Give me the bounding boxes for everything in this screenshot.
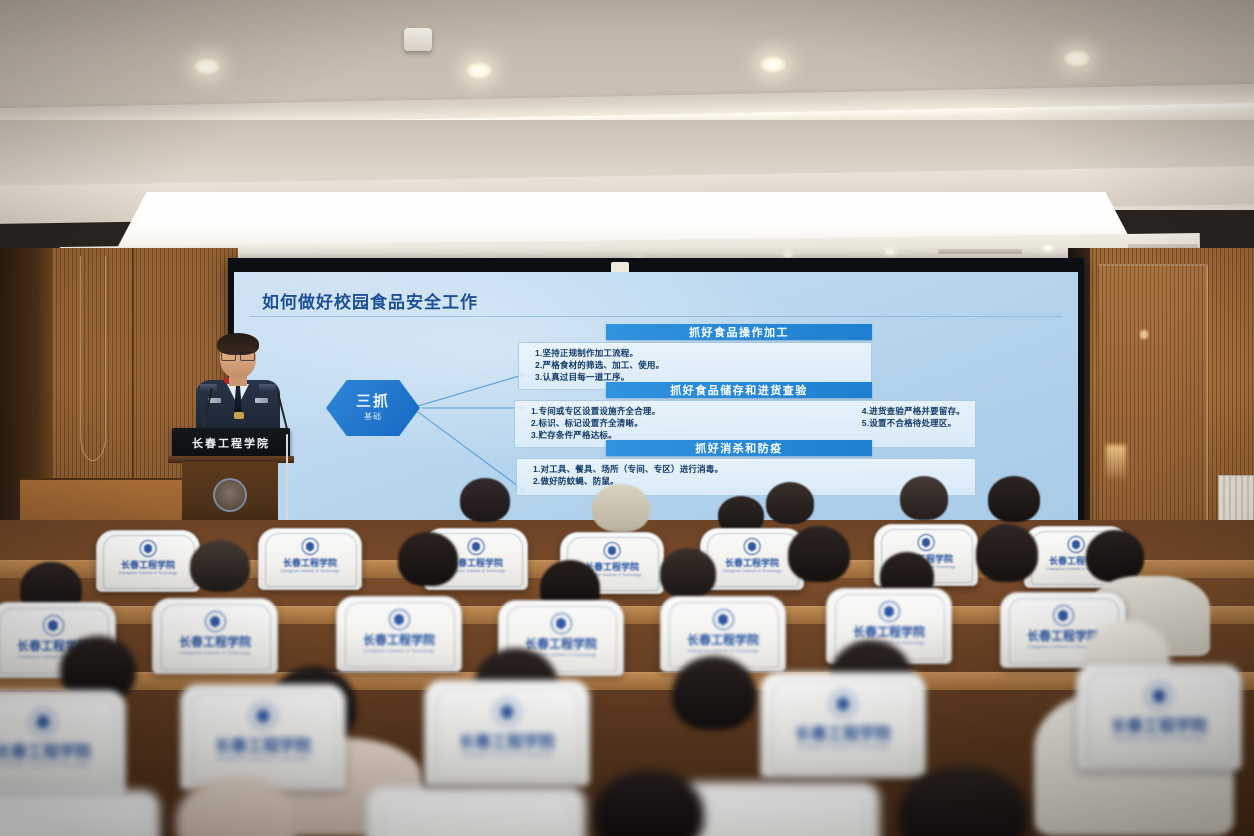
chair-logo-en: Changchun Institute of Technology [723,569,782,573]
presentation-slide: 如何做好校园食品安全工作 三抓 基础 抓好食品操作加工 1.坚持正规制作加工流程… [234,272,1078,524]
audience-head [660,548,716,598]
chair-logo: 长春工程学院 Changchun Institute of Technology [853,601,925,645]
audience-head [1086,530,1144,582]
chair-logo: 长春工程学院 Changchun Institute of Technology [179,611,251,655]
chair-logo: 长春工程学院 Changchun Institute of Technology [215,702,311,762]
block-2-line-right: 5.设置不合格待处理区。 [862,417,965,429]
door-light-reflection [1140,330,1148,339]
block-heading-3: 抓好消杀和防疫 [606,440,872,456]
chair-logo-cn: 长春工程学院 [853,623,925,640]
chair-logo-cn: 长春工程学院 [179,633,251,650]
chair-logo: 长春工程学院 Changchun Institute of Technology [525,613,597,657]
chair-logo-cn: 长春工程学院 [1111,712,1207,736]
chair-logo-cn: 长春工程学院 [363,631,435,648]
chair-logo-cn: 长春工程学院 [215,732,311,756]
chair-logo: 长春工程学院 Changchun Institute of Technology [795,690,891,750]
chair-logo: 长春工程学院 Changchun Institute of Technology [363,609,435,653]
slide-title-divider [250,316,1062,317]
chair-logo-cn: 长春工程学院 [0,738,91,762]
block-heading-1: 抓好食品操作加工 [606,324,872,340]
chair-logo: 长春工程学院 Changchun Institute of Technology [1111,682,1207,742]
chair-logo-cn: 长春工程学院 [687,631,759,648]
soffit-spotlight-icon [886,250,894,255]
ceiling-downlight-icon [1064,50,1090,67]
slide-title: 如何做好校园食品安全工作 [262,288,478,313]
podium-front-panel: 长春工程学院 [172,428,290,458]
audience-head [766,482,814,524]
chair-logo-en: Changchun Institute of Technology [119,571,178,575]
chair [366,786,586,836]
chair-logo: 长春工程学院 Changchun Institute of Technology [723,538,782,573]
audience-head [672,656,756,730]
hub-main-label: 三抓 [356,394,390,411]
ceiling-smoke-detector-icon [404,28,432,51]
block-2-second-column: 4.进货查验严格并要留存。 5.设置不合格待处理区。 [862,405,965,429]
chair-logo: 长春工程学院 Changchun Institute of Technology [0,708,91,768]
chair-logo-en: Changchun Institute of Technology [687,648,758,653]
block-1-line: 2.严格食材的筛选、加工、使用。 [535,359,871,371]
audience-head [788,526,850,582]
speaker-uniform-insignia [234,412,244,419]
glasses-icon [221,352,255,359]
chair-logo-cn: 长春工程学院 [795,720,891,744]
chair-logo-en: Changchun Institute of Technology [0,762,89,768]
ceiling-downlight-icon [194,58,220,75]
block-3-line: 1.对工具、餐具、场所（专间、专区）进行消毒。 [533,463,975,475]
block-heading-2: 抓好食品储存和进货查验 [606,382,872,398]
chair-logo: 长春工程学院 Changchun Institute of Technology [459,698,555,758]
audience-head [988,476,1040,522]
soffit-spotlight-icon [1044,246,1052,251]
chair-logo-en: Changchun Institute of Technology [281,569,340,573]
chair-logo-cn: 长春工程学院 [459,728,555,752]
chair-logo: 长春工程学院 Changchun Institute of Technology [119,540,178,575]
audience-head [190,540,250,592]
speaker-epaulette [200,384,217,391]
ceiling-downlight-icon [466,62,492,79]
chair-logo-cn: 长春工程学院 [525,635,597,652]
audience-head [900,476,948,520]
audience-head [460,478,510,522]
diagram-hub: 三抓 基础 [326,380,420,436]
chair-logo-en: Changchun Institute of Technology [461,752,554,758]
chair-logo-en: Changchun Institute of Technology [179,650,250,655]
chair-logo-en: Changchun Institute of Technology [217,756,310,762]
microphone-cable [286,434,288,526]
ceiling-downlight-icon [760,56,786,73]
speaker-epaulette [259,384,276,391]
block-2-line-right: 4.进货查验严格并要留存。 [862,405,965,417]
podium: 长春工程学院 [172,428,290,532]
chair-logo: 长春工程学院 Changchun Institute of Technology [281,538,340,573]
hanging-cable [80,256,106,461]
chair-logo-cn: 长春工程学院 [725,556,779,569]
chair-logo-en: Changchun Institute of Technology [1113,736,1206,742]
door-light-reflection [1106,445,1126,479]
chair-logo-cn: 长春工程学院 [283,556,337,569]
audience-head [976,524,1038,582]
block-1-line: 1.坚持正规制作加工流程。 [535,347,871,359]
podium-nameplate: 长春工程学院 [192,435,270,451]
chair-logo-en: Changchun Institute of Technology [797,744,890,750]
chair-logo-en: Changchun Institute of Technology [363,648,434,653]
audience-head [398,532,458,586]
ceiling-air-vent [938,249,1022,254]
chair [0,790,160,836]
audience-head-with-cap [592,484,650,532]
speaker-badge [255,398,268,403]
chair-logo-cn: 长春工程学院 [121,558,175,571]
podium-emblem [213,478,247,512]
chair-logo: 长春工程学院 Changchun Institute of Technology [687,609,759,653]
lecture-hall-photo: 如何做好校园食品安全工作 三抓 基础 抓好食品操作加工 1.坚持正规制作加工流程… [0,0,1254,836]
hub-sub-label: 基础 [364,411,382,422]
